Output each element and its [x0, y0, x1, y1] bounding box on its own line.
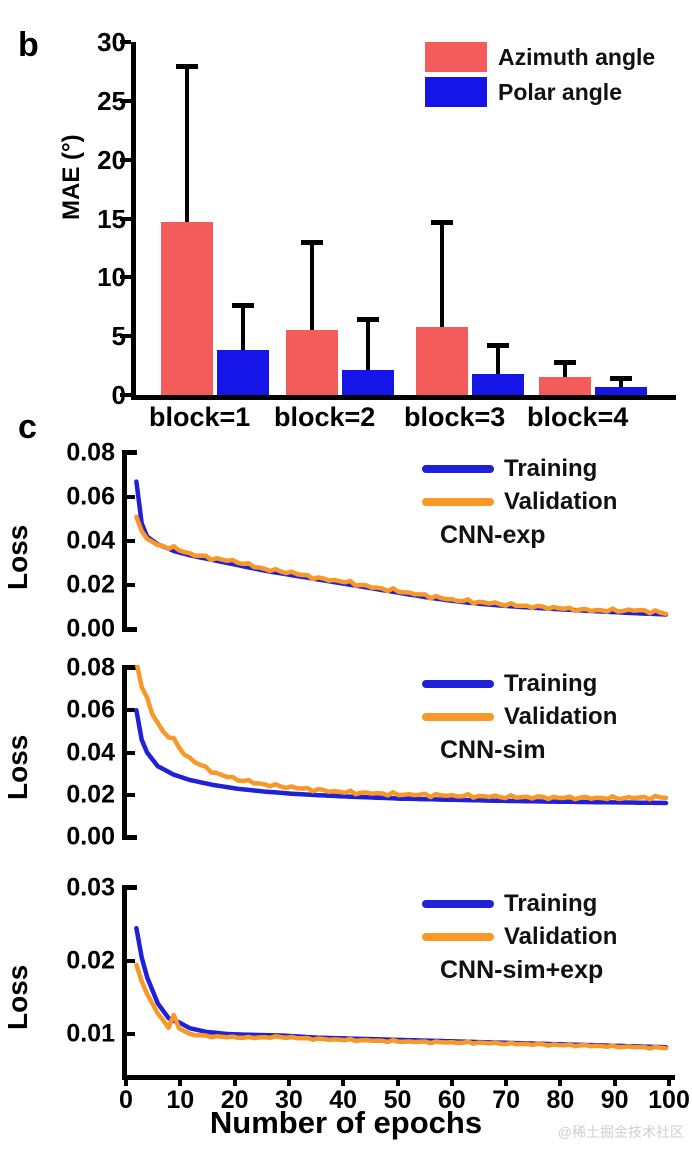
legend-line-validation-icon [422, 713, 494, 721]
legend-row-validation: Validation [422, 487, 617, 517]
loss-plot-1-y-axis-label: Loss [2, 525, 34, 590]
x-tick-90 [613, 1075, 617, 1086]
x-tick-40 [341, 1075, 345, 1086]
legend-row-validation: Validation [422, 702, 617, 732]
loss-plot-2-y-axis-label: Loss [2, 735, 34, 800]
legend-line-training-icon [422, 900, 494, 908]
y-tick-label-0.00: 0.00 [66, 825, 115, 850]
x-tick-50 [396, 1075, 400, 1086]
legend-label-validation: Validation [504, 488, 617, 516]
loss-plot-cnn-sim: Loss 0.000.020.040.060.08 Training Valid… [122, 665, 675, 840]
loss-curves-panel: Loss 0.000.020.040.060.08 Training Valid… [0, 0, 692, 1152]
y-tick-label-0.04: 0.04 [66, 740, 115, 765]
y-tick-label-0.06: 0.06 [66, 485, 115, 510]
legend-row-training: Training [422, 454, 617, 484]
x-tick-0 [124, 1075, 128, 1086]
legend-line-validation-icon [422, 498, 494, 506]
x-tick-80 [558, 1075, 562, 1086]
legend-row-training: Training [422, 889, 617, 919]
legend-row-training: Training [422, 669, 617, 699]
x-tick-30 [287, 1075, 291, 1086]
y-tick-label-0.04: 0.04 [66, 529, 115, 554]
watermark: @稀土掘金技术社区 [558, 1122, 684, 1142]
legend-line-training-icon [422, 465, 494, 473]
x-tick-60 [450, 1075, 454, 1086]
y-tick-label-0.02: 0.02 [66, 782, 115, 807]
legend-label-validation: Validation [504, 923, 617, 951]
x-tick-100 [667, 1075, 671, 1086]
loss-plot-2-model-label: CNN-sim [440, 736, 617, 765]
legend-line-validation-icon [422, 933, 494, 941]
legend-label-validation: Validation [504, 703, 617, 731]
legend-label-training: Training [504, 890, 597, 918]
loss-plot-2-legend: Training Validation CNN-sim [422, 669, 617, 765]
y-tick-label-0.03: 0.03 [66, 876, 115, 901]
loss-plot-3-model-label: CNN-sim+exp [440, 956, 617, 985]
x-tick-20 [233, 1075, 237, 1086]
y-tick-label-0.02: 0.02 [66, 573, 115, 598]
loss-plot-cnn-exp: Loss 0.000.020.040.060.08 Training Valid… [122, 450, 675, 632]
y-tick-label-0.01: 0.01 [66, 1022, 115, 1047]
y-tick-label-0.00: 0.00 [66, 617, 115, 642]
legend-row-validation: Validation [422, 922, 617, 952]
y-tick-label-0.08: 0.08 [66, 656, 115, 681]
legend-label-training: Training [504, 455, 597, 483]
x-tick-70 [504, 1075, 508, 1086]
legend-label-training: Training [504, 670, 597, 698]
loss-plot-3-y-axis-label: Loss [2, 965, 34, 1030]
y-tick-label-0.08: 0.08 [66, 441, 115, 466]
loss-plot-3-legend: Training Validation CNN-sim+exp [422, 889, 617, 985]
loss-plot-1-legend: Training Validation CNN-exp [422, 454, 617, 550]
y-tick-label-0.02: 0.02 [66, 949, 115, 974]
legend-line-training-icon [422, 680, 494, 688]
y-tick-label-0.06: 0.06 [66, 698, 115, 723]
figure-root: b c MAE (°) 051015202530 block=1block=2b… [0, 0, 692, 1152]
loss-plot-cnn-sim-exp: Loss 0.010.020.03 Training Validation CN… [122, 885, 675, 1075]
loss-plot-1-model-label: CNN-exp [440, 521, 617, 550]
x-tick-10 [178, 1075, 182, 1086]
